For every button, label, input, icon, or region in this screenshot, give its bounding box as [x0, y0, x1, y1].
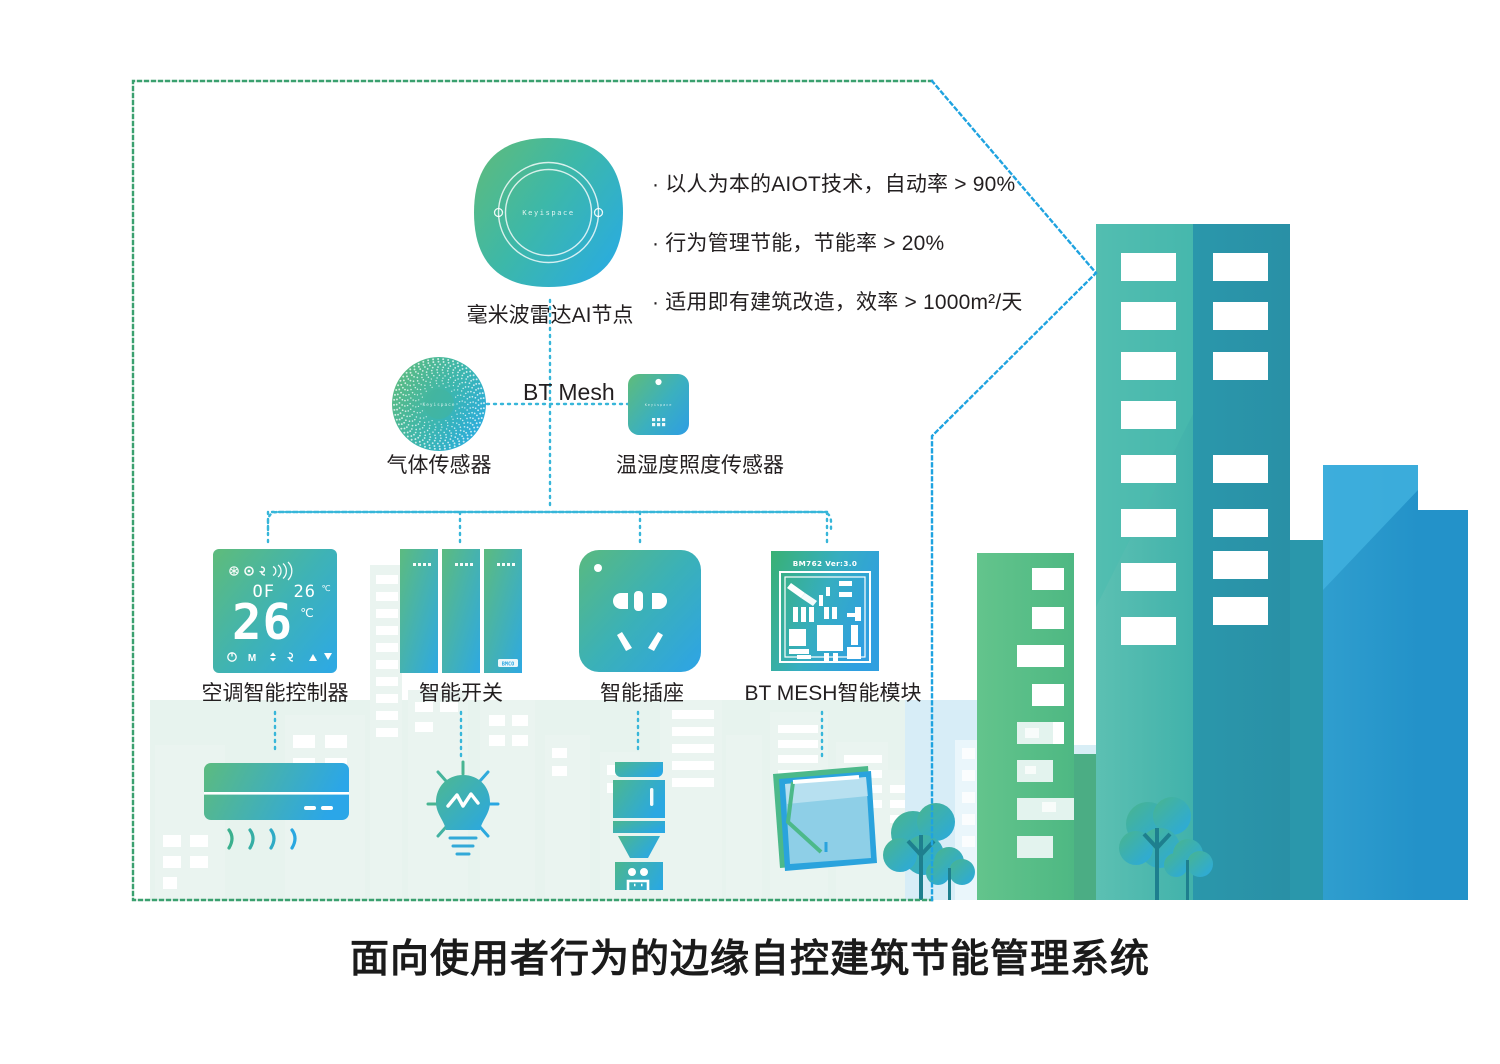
smart-switch-label: 智能开关	[381, 683, 541, 704]
th-sensor-label: 温湿度照度传感器	[570, 455, 830, 476]
thermostat-top-temp: 26	[294, 582, 316, 602]
page-title: 面向使用者行为的边缘自控建筑节能管理系统	[0, 928, 1500, 984]
switch-gang-2	[442, 549, 480, 673]
feature-bullet-list: · 以人为本的AIOT技术，自动率 > 90% · 行为管理节能，节能率 > 2…	[652, 168, 1023, 345]
gas-sensor-brand: Keyispace	[423, 402, 456, 408]
smart-switch-device[interactable]: BMCO	[399, 549, 523, 673]
window-appliance	[763, 760, 881, 876]
feature-bullet-1: · 以人为本的AIOT技术，自动率 > 90%	[652, 168, 1023, 198]
gas-sensor-label: 气体传感器	[339, 455, 539, 476]
th-sensor-device[interactable]: Keyispace	[627, 373, 690, 436]
smart-socket-device[interactable]	[578, 549, 702, 673]
bt-mesh-module-label: BT MESH智能模块	[733, 683, 933, 704]
ac-controller-label: 空调智能控制器	[175, 683, 375, 704]
gas-sensor-device[interactable]: Keyispace	[391, 356, 487, 452]
thermostat-top-unit: ℃	[322, 584, 331, 593]
socket-led	[594, 564, 602, 572]
water-dispenser-appliance	[608, 754, 670, 890]
smart-switch-brand: BMCO	[502, 661, 515, 667]
th-sensor-brand: Keyispace	[645, 403, 673, 407]
diagram-stage: Keyispace 毫米波雷达AI节点 · 以人为本的AIOT技术，自动率 > …	[0, 0, 1500, 1064]
svg-text:M: M	[248, 653, 256, 664]
radar-node-device[interactable]: Keyispace	[472, 136, 625, 289]
connector-lines	[0, 0, 1500, 1064]
air-conditioner-appliance	[203, 762, 353, 872]
switch-gang-3	[484, 549, 522, 673]
thermostat-big-unit: ℃	[300, 606, 313, 620]
ac-controller-device[interactable]: OF 26 ℃ 26 ℃ M	[213, 549, 337, 673]
feature-bullet-2: · 行为管理节能，节能率 > 20%	[652, 227, 1023, 257]
switch-gang-1	[400, 549, 438, 673]
thermostat-big-temp: 26	[232, 594, 293, 651]
th-sensor-led	[655, 379, 661, 385]
bt-mesh-module-device[interactable]: BM762 Ver:3.0	[769, 549, 881, 673]
smart-socket-label: 智能插座	[572, 683, 712, 704]
bt-mesh-link-label: BT Mesh	[523, 379, 615, 406]
radar-node-brand: Keyispace	[522, 209, 574, 217]
light-bulb-appliance	[424, 758, 502, 868]
bt-mesh-module-pcb-text: BM762 Ver:3.0	[793, 559, 858, 568]
feature-bullet-3: · 适用即有建筑改造，效率 > 1000m²/天	[652, 286, 1023, 316]
